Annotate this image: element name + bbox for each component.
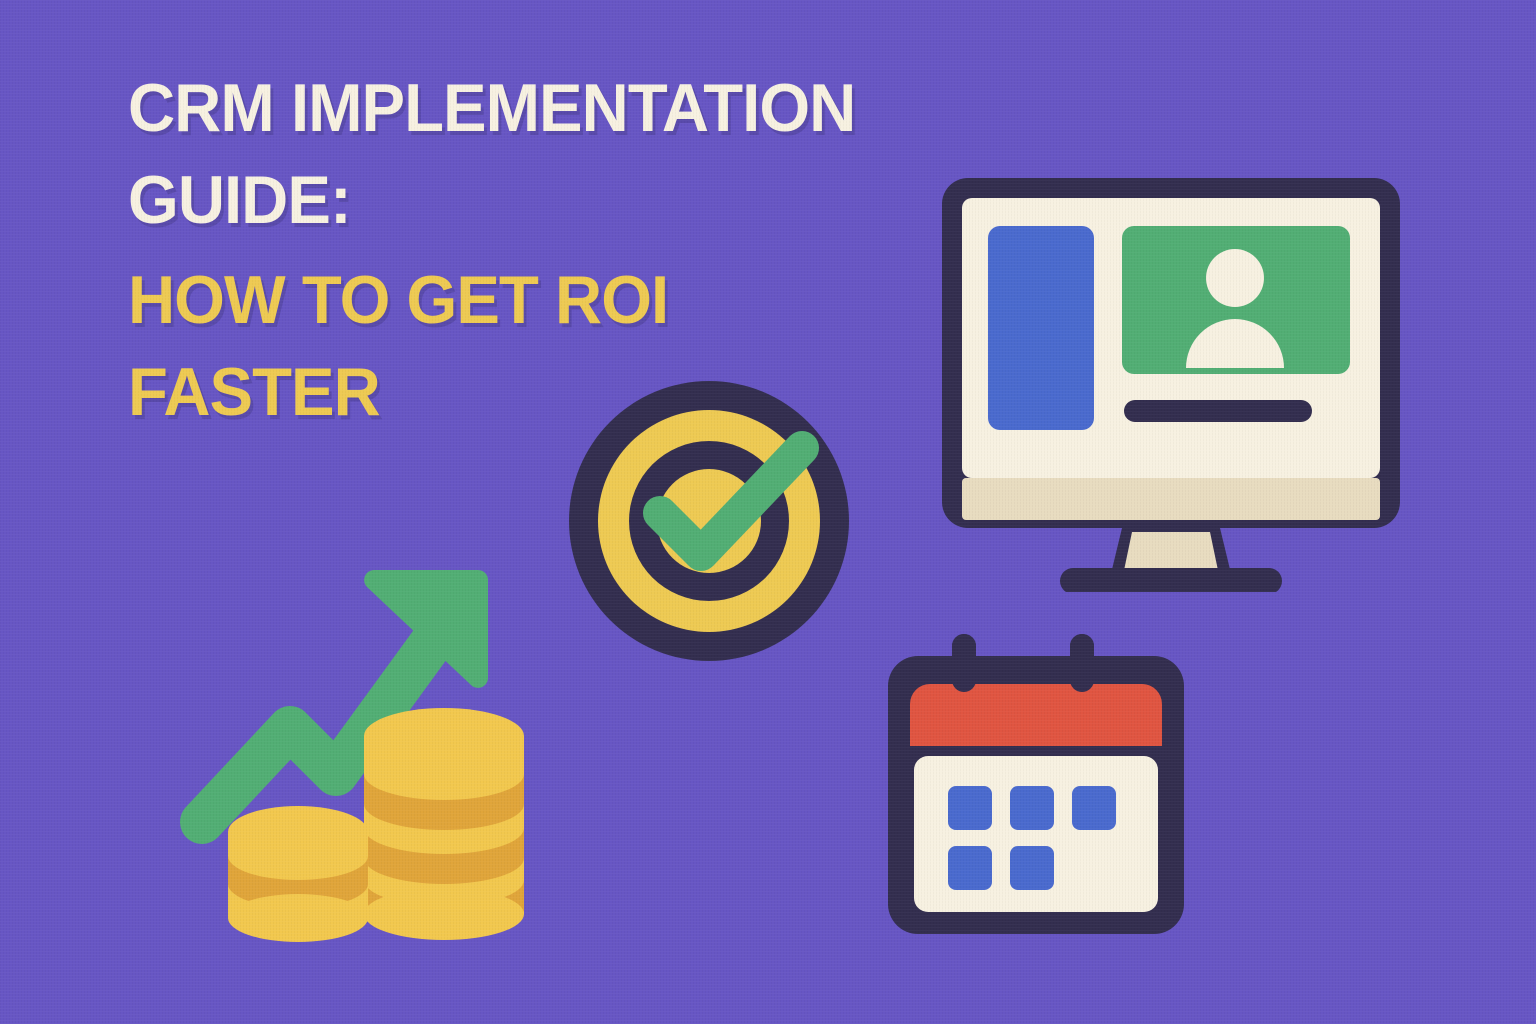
monitor-svg [936,172,1406,592]
calendar-cell [948,846,992,890]
target-svg [562,376,856,666]
calendar-ring-right-overlay-icon [1070,634,1094,692]
short-stack-bottom [228,894,368,942]
monitor-icon [936,172,1406,592]
avatar-head-icon [1206,249,1264,307]
tall-coin-stack [364,708,524,940]
short-coin-stack [228,806,368,942]
calendar-header [910,684,1162,746]
title-line-1: CRM IMPLEMENTATION [128,62,1021,154]
calendar-ring-left-overlay-icon [952,634,976,692]
calendar-icon [874,634,1198,946]
monitor-stand-base [1060,568,1282,592]
calendar-cell [1010,786,1054,830]
calendar-cell [1010,846,1054,890]
tall-stack-bottom [364,888,524,940]
infographic-canvas: CRM IMPLEMENTATION GUIDE: HOW TO GET ROI… [0,0,1536,1024]
monitor-text-bar [1124,400,1312,422]
growth-icon [178,560,590,952]
title-line-2: GUIDE: [128,154,1021,246]
short-stack-top [228,806,368,858]
calendar-svg [874,634,1198,946]
monitor-chin [962,478,1380,520]
monitor-sidebar-panel [988,226,1094,430]
target-icon [562,376,856,666]
growth-svg [178,560,590,952]
tall-stack-top [364,708,524,764]
calendar-cell [948,786,992,830]
calendar-cell [1072,786,1116,830]
title-line-3: HOW TO GET ROI [128,254,1021,346]
